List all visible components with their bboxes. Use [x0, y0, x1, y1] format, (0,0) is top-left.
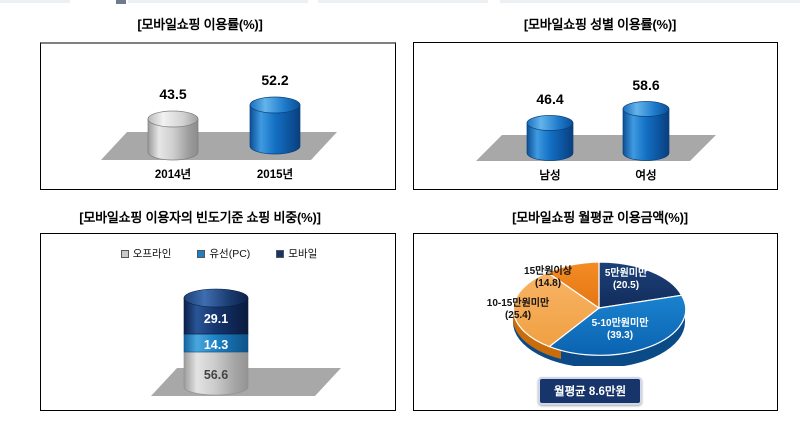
bar-cylinder-2014	[147, 110, 199, 160]
category-label-female: 여성	[616, 167, 676, 183]
chart-panel-shopping-share: [모바일쇼핑 이용자의 빈도기준 쇼핑 비중(%)] 오프라인 유선(PC) 모…	[0, 203, 400, 426]
legend-shopping-share: 오프라인 유선(PC) 모바일	[41, 246, 397, 261]
scan-artifact	[116, 0, 126, 4]
average-spend-badge: 월평균 8.6만원	[538, 377, 642, 405]
chart-title-monthly-spend: [모바일쇼핑 월평균 이용금액(%)]	[400, 203, 800, 226]
pie-label-text: 15만원이상	[524, 266, 572, 277]
bar-cylinder-male	[526, 115, 574, 161]
chart-frame-shopping-share: 오프라인 유선(PC) 모바일	[40, 233, 396, 411]
chart-frame-usage-rate: 43.5 2014년	[40, 42, 396, 190]
legend-item-mobile[interactable]: 모바일	[276, 246, 317, 261]
chart-title-usage-rate: [모바일쇼핑 이용률(%)]	[0, 8, 400, 33]
pie-label-100k-150k: 10-15만원미만 (25.4)	[462, 298, 574, 321]
bar-cylinder-2015	[249, 96, 301, 154]
pie-label-text: 5-10만원미만	[592, 318, 649, 329]
chart-title-usage-rate-by-gender: [모바일쇼핑 성별 이용률(%)]	[400, 8, 800, 33]
pie-label-over-150k: 15만원이상 (14.8)	[502, 266, 594, 289]
scan-artifact	[500, 0, 800, 3]
pie-label-50k-100k: 5-10만원미만 (39.3)	[564, 318, 676, 341]
legend-label-offline: 오프라인	[133, 246, 172, 261]
value-label-2015: 52.2	[249, 72, 301, 88]
legend-item-offline[interactable]: 오프라인	[121, 246, 172, 261]
segment-label-mobile: 29.1	[183, 312, 249, 326]
pie-label-text: 5만원미만	[605, 268, 647, 279]
legend-swatch-icon	[197, 250, 205, 258]
legend-label-mobile: 모바일	[288, 246, 317, 261]
segment-label-pc: 14.3	[183, 338, 249, 352]
chart-panel-monthly-spend: [모바일쇼핑 월평균 이용금액(%)]	[400, 203, 800, 426]
bar-cylinder-female	[622, 101, 670, 161]
value-label-2014: 43.5	[147, 86, 199, 102]
chart-frame-monthly-spend: 5만원미만 (20.5) 5-10만원미만 (39.3) 10-15만원미만 (…	[413, 233, 778, 411]
legend-item-pc[interactable]: 유선(PC)	[197, 246, 250, 261]
scan-artifact	[0, 0, 70, 3]
value-label-male: 46.4	[522, 91, 578, 107]
chart-floor	[476, 135, 716, 161]
legend-swatch-icon	[276, 250, 284, 258]
pie-label-text: 10-15만원미만	[487, 298, 549, 309]
segment-label-offline: 56.6	[183, 368, 249, 382]
pie-value-text: (14.8)	[502, 278, 594, 290]
legend-label-pc: 유선(PC)	[209, 246, 250, 261]
chart-floor	[101, 132, 337, 160]
pie-value-text: (25.4)	[462, 310, 574, 322]
category-label-2014: 2014년	[137, 166, 209, 182]
infographic-page: [모바일쇼핑 이용률(%)]	[0, 0, 800, 426]
chart-panel-usage-rate-by-gender: [모바일쇼핑 성별 이용률(%)]	[400, 8, 800, 198]
category-label-2015: 2015년	[239, 166, 311, 182]
chart-panel-usage-rate: [모바일쇼핑 이용률(%)]	[0, 8, 400, 198]
scan-artifact	[318, 0, 488, 3]
pie-value-text: (20.5)	[582, 280, 670, 292]
value-label-female: 58.6	[618, 77, 674, 93]
category-label-male: 남성	[520, 167, 580, 183]
legend-swatch-icon	[121, 250, 129, 258]
pie-value-text: (39.3)	[564, 330, 676, 342]
chart-title-shopping-share: [모바일쇼핑 이용자의 빈도기준 쇼핑 비중(%)]	[0, 203, 400, 226]
pie-label-under-50k: 5만원미만 (20.5)	[582, 268, 670, 291]
scan-artifact	[128, 0, 308, 3]
chart-frame-usage-rate-by-gender: 46.4 남성	[413, 42, 778, 190]
